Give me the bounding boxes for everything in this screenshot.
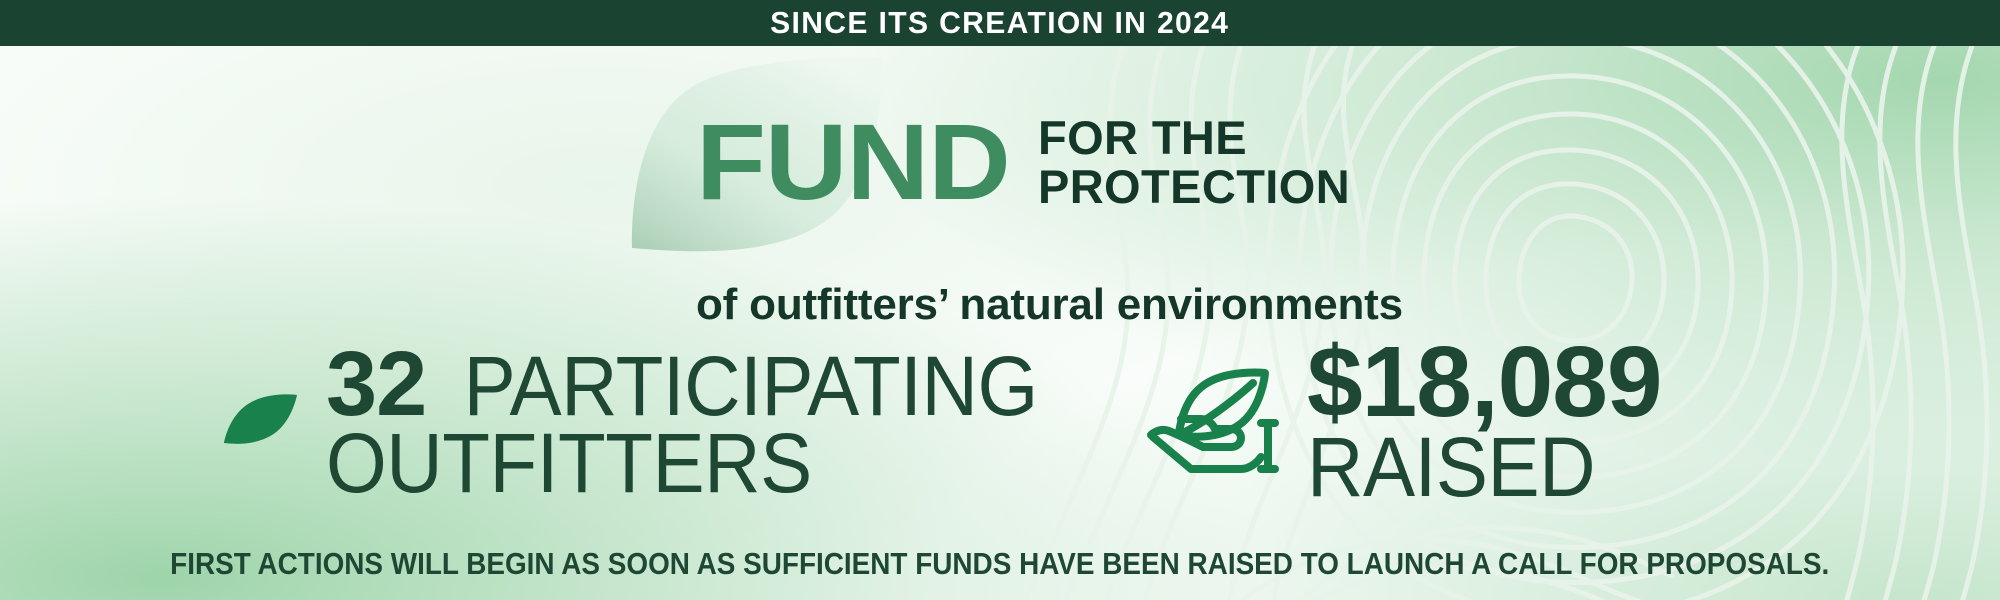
logo-wordmark-fund: FUND <box>696 112 1010 211</box>
stat-label-below: RAISED <box>1307 426 1637 508</box>
footnote: FIRST ACTIONS WILL BEGIN AS SOON AS SUFF… <box>0 546 2000 582</box>
stat-participating-outfitters: 32 PARTICIPATING OUTFITTERS <box>222 340 1060 505</box>
stat-line-primary: 32 PARTICIPATING <box>326 340 1060 428</box>
fund-promo-banner: SINCE ITS CREATION IN 2024 <box>0 0 2000 600</box>
stat-text-block: 32 PARTICIPATING OUTFITTERS <box>326 340 1060 505</box>
top-announcement-text: SINCE ITS CREATION IN 2024 <box>770 5 1229 41</box>
stat-amount-raised: $18,089 RAISED <box>1145 334 1661 508</box>
stat-label-below: OUTFITTERS <box>326 422 1008 504</box>
stat-line-primary: $18,089 <box>1307 334 1661 430</box>
banner-body: FUND FOR THE PROTECTION of outfitters’ n… <box>0 46 2000 600</box>
stat-number: $18,089 <box>1307 334 1661 430</box>
logo-primary-row: FUND FOR THE PROTECTION <box>696 98 1350 212</box>
stat-label-inline: PARTICIPATING <box>464 345 1038 427</box>
leaf-icon <box>222 389 300 456</box>
stat-number: 32 <box>326 340 426 428</box>
logo-subtitle-line-1: FOR THE <box>1038 114 1350 163</box>
stats-row: 32 PARTICIPATING OUTFITTERS <box>0 334 2000 514</box>
logo-tagline: of outfitters’ natural environments <box>696 280 1403 330</box>
top-announcement-bar: SINCE ITS CREATION IN 2024 <box>0 0 2000 46</box>
footnote-text: FIRST ACTIONS WILL BEGIN AS SOON AS SUFF… <box>170 546 1829 582</box>
logo-subtitle-block: FOR THE PROTECTION <box>1038 114 1350 212</box>
hand-holding-plant-icon <box>1145 357 1281 486</box>
fund-logo-lockup: FUND FOR THE PROTECTION of outfitters’ n… <box>0 98 2000 313</box>
logo-subtitle-line-2: PROTECTION <box>1038 163 1350 212</box>
stat-text-block: $18,089 RAISED <box>1307 334 1661 508</box>
